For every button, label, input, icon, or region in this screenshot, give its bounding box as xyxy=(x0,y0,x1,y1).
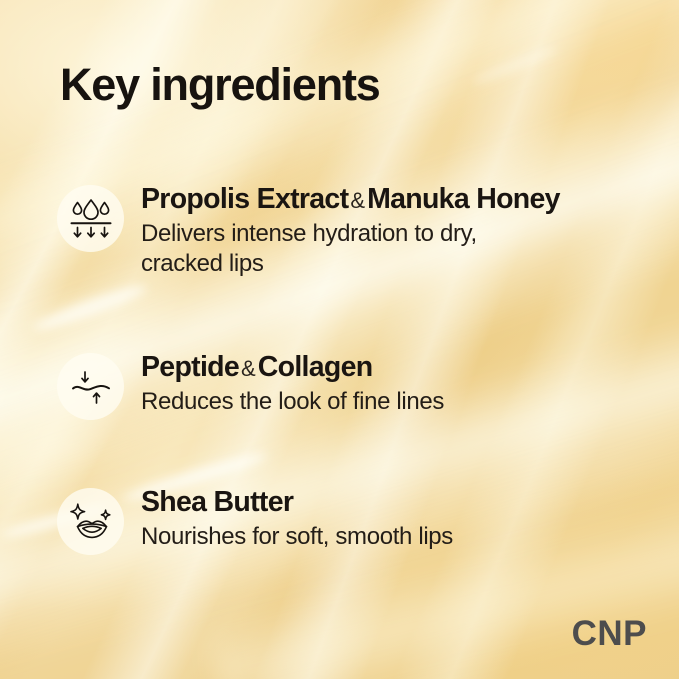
ingredient-title-second: Collagen xyxy=(258,351,373,383)
ingredient-title: Shea Butter xyxy=(141,487,453,519)
hydration-drops-icon xyxy=(69,199,113,239)
ingredient-text: Shea Butter Nourishes for soft, smooth l… xyxy=(141,486,453,552)
ingredient-description: Nourishes for soft, smooth lips xyxy=(141,522,453,552)
page-title: Key ingredients xyxy=(60,62,380,107)
wrinkle-smoothing-icon xyxy=(70,368,112,406)
ampersand xyxy=(293,491,297,516)
ingredient-title: Propolis Extract&Manuka Honey xyxy=(141,184,561,216)
icon-badge xyxy=(57,488,124,555)
ingredient-title-main: Shea Butter xyxy=(141,486,293,518)
ingredient-title-second: Manuka Honey xyxy=(367,183,560,215)
ingredient-title-main: Propolis Extract xyxy=(141,183,348,215)
ampersand: & xyxy=(239,356,258,381)
ingredient-description: Reduces the look of fine lines xyxy=(141,387,444,417)
brand-logo: CNP xyxy=(572,616,647,651)
ingredient-description: Delivers intense hydration to dry, crack… xyxy=(141,219,561,279)
icon-badge xyxy=(57,353,124,420)
product-infographic: Key ingredients xyxy=(0,0,679,679)
icon-badge xyxy=(57,185,124,252)
ingredient-item: Shea Butter Nourishes for soft, smooth l… xyxy=(57,486,659,555)
ingredient-title-main: Peptide xyxy=(141,351,239,383)
ingredient-item: Propolis Extract&Manuka Honey Delivers i… xyxy=(57,183,659,279)
ingredient-title: Peptide&Collagen xyxy=(141,352,444,384)
sparkling-lips-icon xyxy=(69,503,113,541)
ingredient-item: Peptide&Collagen Reduces the look of fin… xyxy=(57,351,659,420)
ampersand: & xyxy=(348,188,367,213)
ingredient-text: Peptide&Collagen Reduces the look of fin… xyxy=(141,351,444,417)
ingredient-text: Propolis Extract&Manuka Honey Delivers i… xyxy=(141,183,561,279)
